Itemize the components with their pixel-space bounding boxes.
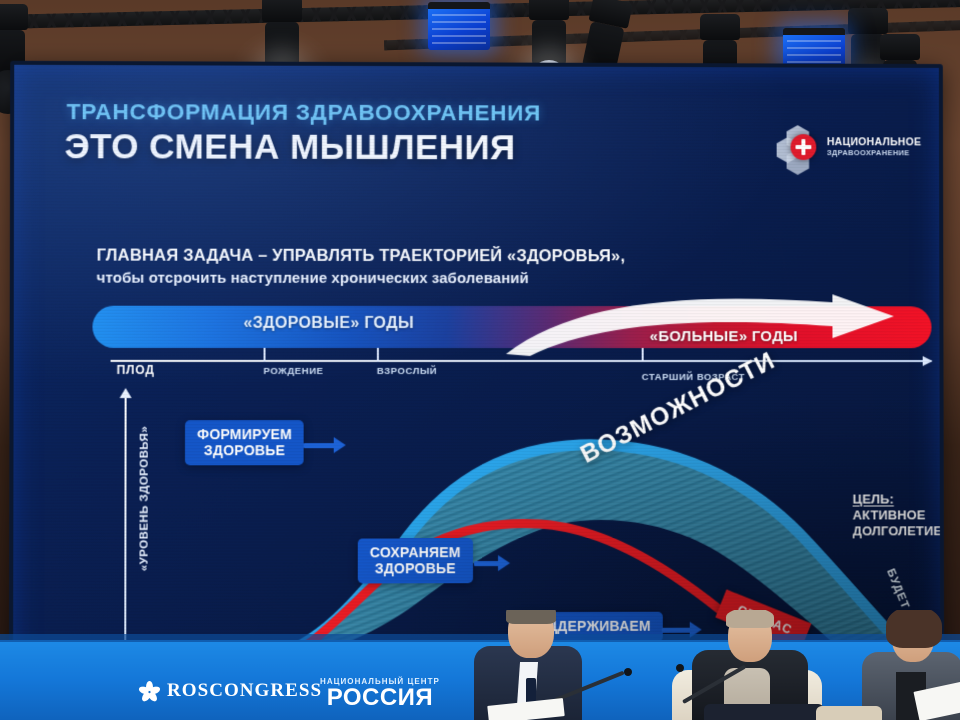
task-line-2: чтобы отсрочить наступление хронических … bbox=[97, 268, 738, 288]
roscongress-wordmark: ROSCONGRESS bbox=[167, 680, 322, 702]
slide-task-text: ГЛАВНАЯ ЗАДАЧА – УПРАВЛЯТЬ ТРАЕКТОРИЕЙ «… bbox=[97, 246, 738, 289]
panelist-right bbox=[862, 610, 960, 720]
led-wash-panel-icon bbox=[428, 2, 490, 50]
national-healthcare-logo: НАЦИОНАЛЬНОЕ ЗДРАВООХРАНЕНИЕ bbox=[776, 125, 921, 169]
russia-wordmark: РОССИЯ bbox=[320, 686, 440, 710]
national-center-russia-logo: НАЦИОНАЛЬНЫЙ ЦЕНТР РОССИЯ bbox=[320, 677, 440, 710]
white-swoosh-arrow-icon bbox=[504, 294, 938, 356]
task-line-1: ГЛАВНАЯ ЗАДАЧА – УПРАВЛЯТЬ ТРАЕКТОРИЕЙ «… bbox=[97, 246, 738, 267]
callout-keep-line2: ЗДОРОВЬЕ bbox=[370, 561, 461, 577]
callout-keep-arrow-line bbox=[474, 561, 500, 566]
callout-form-line2: ЗДОРОВЬЕ bbox=[197, 443, 292, 459]
healthy-years-label: «ЗДОРОВЫЕ» ГОДЫ bbox=[243, 315, 413, 333]
slide-content: ТРАНСФОРМАЦИЯ ЗДРАВООХРАНЕНИЯ ЭТО СМЕНА … bbox=[13, 65, 940, 688]
goal-line-1: АКТИВНОЕ bbox=[853, 507, 942, 523]
callout-form-arrow-line bbox=[304, 443, 336, 448]
slide-kicker: ТРАНСФОРМАЦИЯ ЗДРАВООХРАНЕНИЯ bbox=[67, 99, 541, 126]
timeline-label-birth: РОЖДЕНИЕ bbox=[264, 366, 324, 377]
callout-form-health: ФОРМИРУЕМ ЗДОРОВЬЕ bbox=[185, 420, 304, 466]
callout-keep-line1: СОХРАНЯЕМ bbox=[370, 545, 461, 561]
logo-line-2: ЗДРАВООХРАНЕНИЕ bbox=[827, 149, 921, 158]
timeline-label-fetus: ПЛОД bbox=[117, 363, 155, 377]
roscongress-logo: ROSCONGRESS bbox=[140, 680, 322, 702]
callout-keep-arrow-icon bbox=[498, 555, 510, 571]
slide-headline: ЭТО СМЕНА МЫШЛЕНИЯ bbox=[64, 127, 515, 168]
callout-keep-health: СОХРАНЯЕМ ЗДОРОВЬЕ bbox=[358, 538, 473, 584]
panelist-center bbox=[680, 610, 820, 720]
goal-text: ЦЕЛЬ: АКТИВНОЕ ДОЛГОЛЕТИЕ bbox=[853, 491, 943, 539]
top-timeline: ПЛОД РОЖДЕНИЕ ВЗРОСЛЫЙ СТАРШИЙ ВОЗРАСТ bbox=[111, 360, 932, 390]
presentation-screen: ТРАНСФОРМАЦИЯ ЗДРАВООХРАНЕНИЯ ЭТО СМЕНА … bbox=[9, 61, 944, 692]
hexagon-cluster-icon bbox=[776, 125, 820, 169]
timeline-label-adult: ВЗРОСЛЫЙ bbox=[377, 366, 437, 377]
flower-icon bbox=[140, 682, 159, 701]
goal-title: ЦЕЛЬ: bbox=[853, 492, 894, 507]
timeline-arrow-icon bbox=[923, 356, 933, 366]
stage-foreground: ROSCONGRESS НАЦИОНАЛЬНЫЙ ЦЕНТР РОССИЯ bbox=[0, 610, 960, 720]
panelist-left bbox=[470, 610, 600, 720]
goal-line-2: ДОЛГОЛЕТИЕ bbox=[853, 523, 942, 539]
callout-form-line1: ФОРМИРУЕМ bbox=[197, 427, 292, 443]
medical-cross-icon bbox=[790, 134, 816, 160]
callout-form-arrow-icon bbox=[334, 437, 346, 453]
conference-hall: ТРАНСФОРМАЦИЯ ЗДРАВООХРАНЕНИЯ ЭТО СМЕНА … bbox=[0, 0, 960, 720]
